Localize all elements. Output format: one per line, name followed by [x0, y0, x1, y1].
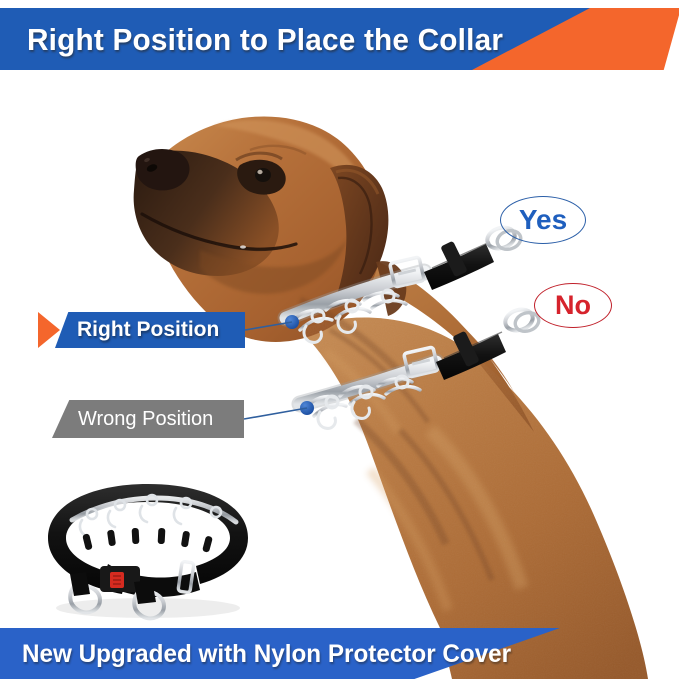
footer-text: New Upgraded with Nylon Protector Cover	[22, 632, 511, 676]
callout-wrong-position-label: Wrong Position	[52, 408, 213, 431]
callout-marker-incorrect	[300, 401, 314, 415]
badge-no-label: No	[555, 290, 591, 321]
callout-right-position[interactable]: Right Position	[55, 312, 245, 348]
callout-wrong-position[interactable]: Wrong Position	[52, 400, 244, 438]
badge-yes-label: Yes	[519, 204, 567, 236]
callout-right-position-label: Right Position	[55, 318, 219, 342]
badge-yes: Yes	[500, 196, 586, 244]
right-position-arrow-icon	[38, 312, 60, 348]
badge-no: No	[534, 283, 612, 328]
header-title: Right Position to Place the Collar	[27, 14, 641, 66]
header-banner: Right Position to Place the Collar	[0, 0, 679, 78]
callout-marker-correct	[285, 315, 299, 329]
product-infographic: Right Position to Place the Collar Right…	[0, 0, 679, 679]
product-inset-collar	[48, 484, 248, 618]
